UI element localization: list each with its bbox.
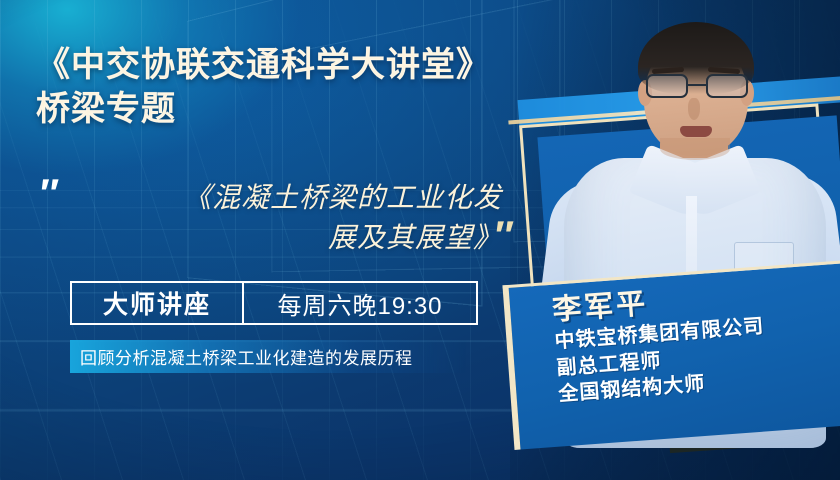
poster-canvas: 李军平 中铁宝桥集团有限公司 副总工程师 全国钢结构大师 《中交协联交通科学大讲… [0, 0, 840, 480]
subtitle-line-2: 展及其展望》 [328, 222, 502, 253]
badge-series-label: 大师讲座 [72, 283, 244, 323]
subtitle-line-1: 《混凝土桥梁的工业化发 [183, 182, 502, 213]
lecture-topic-text: 《混凝土桥梁的工业化发 展及其展望》 [92, 178, 502, 258]
badge-time-label: 每周六晚19:30 [244, 286, 476, 321]
eyeglass-lens-right [706, 74, 748, 98]
eyeglass-lens-left [646, 74, 688, 98]
schedule-badge: 大师讲座 每周六晚19:30 [70, 281, 478, 325]
photo-chin [660, 138, 730, 160]
description-strip: 回顾分析混凝土桥梁工业化建造的发展历程 [70, 340, 466, 373]
speaker-name-card: 李军平 中铁宝桥集团有限公司 副总工程师 全国钢结构大师 [502, 259, 840, 450]
eyeglass-bridge [688, 84, 706, 86]
photo-nose [688, 98, 700, 120]
description-text: 回顾分析混凝土桥梁工业化建造的发展历程 [70, 344, 413, 369]
photo-eyeglasses [646, 74, 748, 100]
lecture-topic-quote: ″ 《混凝土桥梁的工业化发 展及其展望》 ″ [36, 172, 506, 264]
quote-close-icon: ″ [493, 216, 512, 256]
photo-mouth [680, 126, 712, 137]
title-line-2: 桥梁专题 [36, 88, 556, 132]
page-title: 《中交协联交通科学大讲堂》 桥梁专题 [36, 44, 556, 131]
title-line-1: 《中交协联交通科学大讲堂》 [36, 46, 491, 84]
quote-open-icon: ″ [38, 174, 57, 214]
